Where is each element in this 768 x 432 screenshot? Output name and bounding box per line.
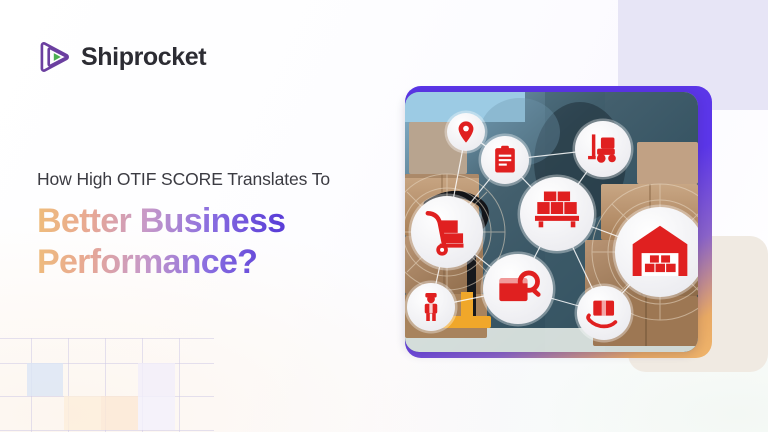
network-node-careful-handling[interactable]	[575, 284, 634, 343]
network-node-package-search[interactable]	[481, 252, 556, 327]
grid-cell	[101, 396, 138, 430]
grid-line-horizontal	[0, 430, 214, 431]
grid-cell	[27, 363, 63, 396]
network-node-location-pin[interactable]	[445, 111, 488, 154]
supply-chain-network-illustration	[405, 92, 698, 352]
network-node-worker[interactable]	[405, 281, 458, 334]
network-node-hand-truck[interactable]	[409, 194, 486, 271]
network-node-clipboard-checklist[interactable]	[479, 134, 532, 187]
network-node-forklift[interactable]	[573, 119, 634, 180]
grid-cell	[138, 396, 175, 430]
grid-cell	[64, 396, 101, 430]
headline-line-2: Performance?	[37, 242, 367, 284]
hero-photo	[405, 92, 698, 352]
network-node-pallet-stack[interactable]	[518, 175, 597, 254]
grid-line-vertical	[179, 338, 180, 432]
headline-block: How High OTIF SCORE Translates To Better…	[37, 168, 397, 284]
brand-logo[interactable]: Shiprocket	[38, 40, 206, 74]
headline-kicker: How High OTIF SCORE Translates To	[37, 168, 397, 192]
headline-line-1: Better Business	[37, 202, 285, 240]
shiprocket-play-triangle-logo-icon	[38, 40, 72, 74]
clipboard-icon	[495, 146, 515, 173]
brand-wordmark: Shiprocket	[81, 45, 206, 70]
hero-image	[405, 86, 712, 358]
grid-line-horizontal	[0, 338, 214, 339]
decor-grid	[0, 338, 214, 432]
headline-main: Better Business Performance?	[37, 201, 367, 285]
slide-canvas: Shiprocket How High OTIF SCORE Translate…	[0, 0, 768, 432]
grid-cell	[138, 363, 175, 396]
